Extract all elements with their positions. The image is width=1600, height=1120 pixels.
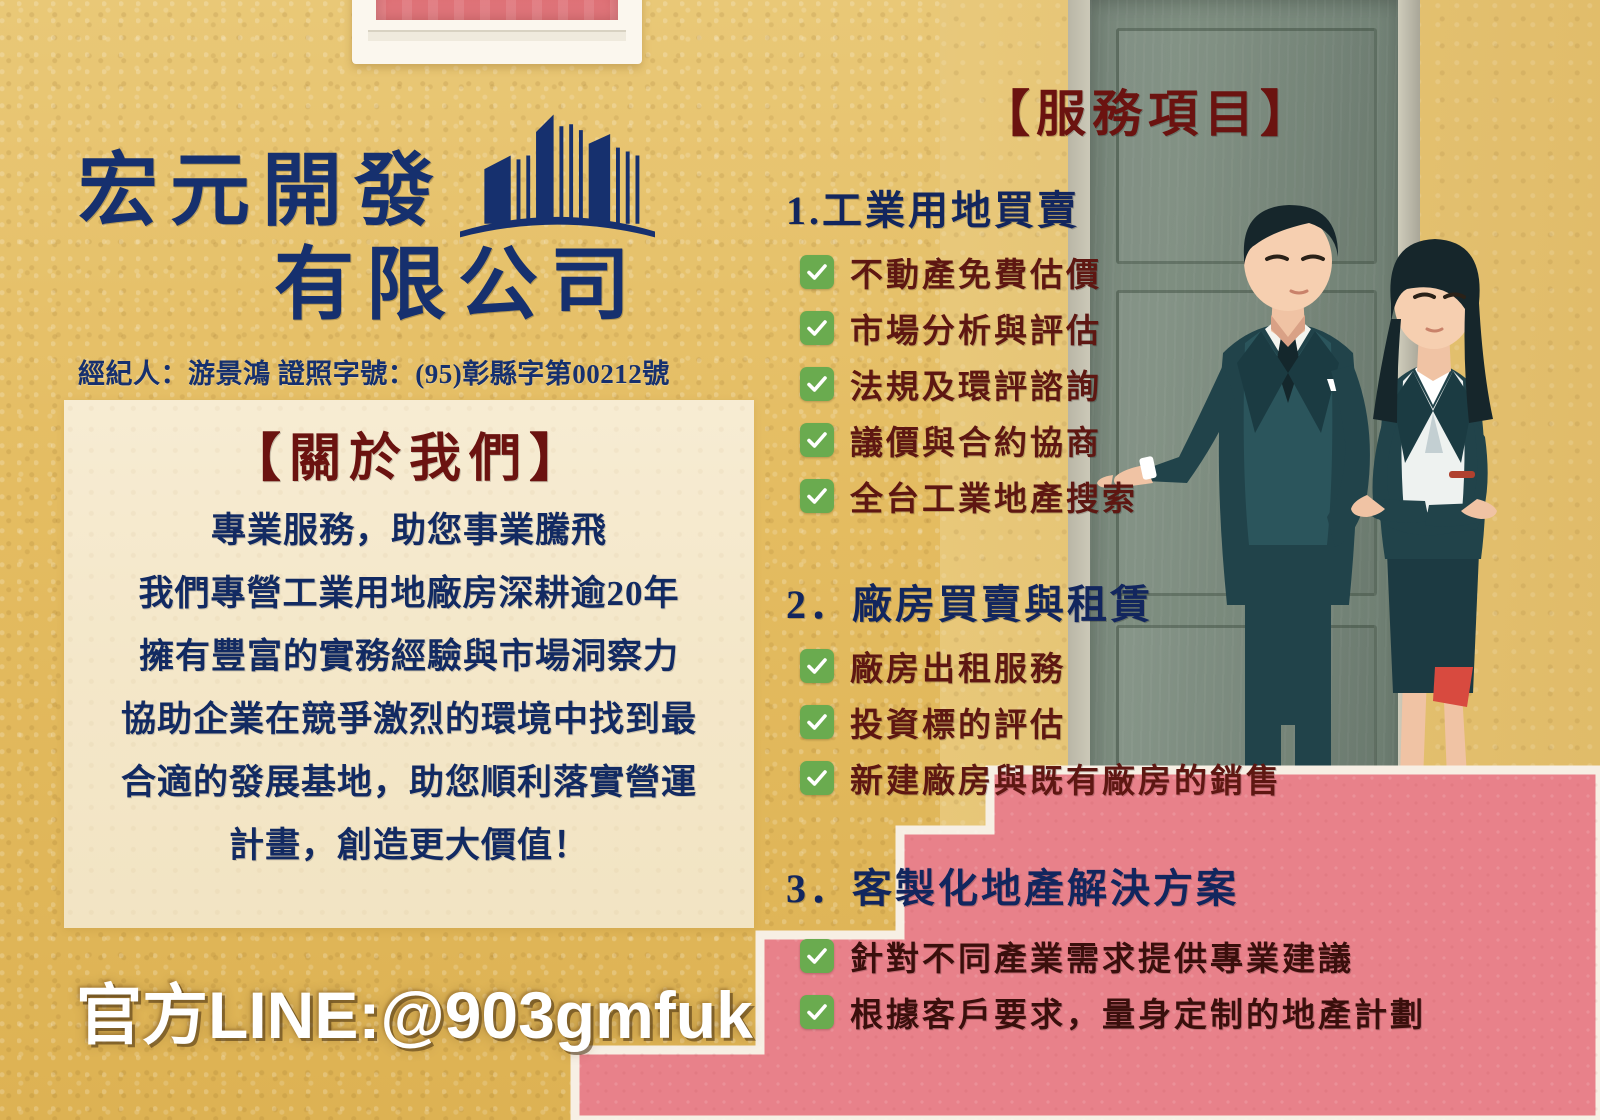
check-icon: [800, 255, 834, 289]
check-icon: [800, 311, 834, 345]
about-line: 專業服務，助您事業騰飛: [64, 513, 754, 548]
check-icon: [800, 995, 834, 1029]
official-line-id[interactable]: 官方LINE:@903gmfuk: [76, 962, 753, 1058]
check-icon: [800, 423, 834, 457]
service-item: 法規及環評諮詢: [800, 360, 1138, 408]
service-section-2: 2．廠房買賣與租賃 廠房出租服務 投資標的評估 新建廠房與既有廠房的銷售: [786, 572, 1282, 810]
services-title: 【服務項目】: [980, 74, 1316, 146]
window-ledge: [368, 30, 626, 41]
service-item-label: 全台工業地產搜索: [850, 472, 1138, 520]
service-item-label: 議價與合約協商: [850, 416, 1102, 464]
service-item-label: 不動產免費估價: [850, 248, 1102, 296]
service-item: 根據客戶要求，量身定制的地產計劃: [800, 988, 1426, 1036]
service-section-1: 1.工業用地買賣 不動產免費估價 市場分析與評估 法規及環評諮詢 議價與合約協商…: [786, 178, 1138, 528]
service-section-2-heading: 2．廠房買賣與租賃: [786, 572, 1282, 630]
city-skyline-icon: [460, 108, 655, 238]
check-icon: [800, 367, 834, 401]
service-section-1-heading: 1.工業用地買賣: [786, 178, 1138, 236]
check-icon: [800, 761, 834, 795]
service-section-3-heading: 3．客製化地產解決方案: [786, 856, 1426, 914]
service-item-label: 市場分析與評估: [850, 304, 1102, 352]
check-icon: [800, 705, 834, 739]
about-line: 我們專營工業用地廠房深耕逾20年: [64, 576, 754, 611]
about-us-title: 【關於我們】: [64, 416, 754, 491]
company-name-line1: 宏元開發: [78, 152, 446, 232]
service-item: 全台工業地產搜索: [800, 472, 1138, 520]
service-item-label: 法規及環評諮詢: [850, 360, 1102, 408]
two-business-people-illustration: [1095, 165, 1565, 965]
service-item: 針對不同產業需求提供專業建議: [800, 932, 1426, 980]
about-line: 合適的發展基地，助您順利落實營運: [64, 765, 754, 800]
service-item: 市場分析與評估: [800, 304, 1138, 352]
service-section-3: 3．客製化地產解決方案 針對不同產業需求提供專業建議 根據客戶要求，量身定制的地…: [786, 856, 1426, 1044]
broker-info: 經紀人：游景鴻 證照字號：(95)彰縣字第00212號: [78, 352, 768, 391]
service-item-label: 根據客戶要求，量身定制的地產計劃: [850, 988, 1426, 1036]
service-item: 新建廠房與既有廠房的銷售: [800, 754, 1282, 802]
service-item-label: 針對不同產業需求提供專業建議: [850, 932, 1354, 980]
service-item: 不動產免費估價: [800, 248, 1138, 296]
poster-root: 宏元開發 有限公司 經紀人：游景鴻 證照字號：(95)彰縣字第00212號 【關…: [0, 0, 1600, 1120]
company-name-line2: 有限公司: [274, 246, 718, 326]
check-icon: [800, 939, 834, 973]
check-icon: [800, 479, 834, 513]
about-line: 計畫，創造更大價值！: [64, 828, 754, 863]
company-logo: 宏元開發 有限公司: [78, 108, 718, 326]
service-item: 議價與合約協商: [800, 416, 1138, 464]
service-item-label: 廠房出租服務: [850, 642, 1066, 690]
service-item-label: 新建廠房與既有廠房的銷售: [850, 754, 1282, 802]
check-icon: [800, 649, 834, 683]
about-line: 協助企業在競爭激烈的環境中找到最: [64, 702, 754, 737]
window-curtain: [376, 0, 618, 20]
window-decor: [352, 0, 642, 64]
service-item-label: 投資標的評估: [850, 698, 1066, 746]
service-item: 投資標的評估: [800, 698, 1282, 746]
about-line: 擁有豐富的實務經驗與市場洞察力: [64, 639, 754, 674]
service-item: 廠房出租服務: [800, 642, 1282, 690]
about-us-card: 【關於我們】 專業服務，助您事業騰飛 我們專營工業用地廠房深耕逾20年 擁有豐富…: [64, 400, 754, 928]
about-us-body: 專業服務，助您事業騰飛 我們專營工業用地廠房深耕逾20年 擁有豐富的實務經驗與市…: [64, 513, 754, 863]
